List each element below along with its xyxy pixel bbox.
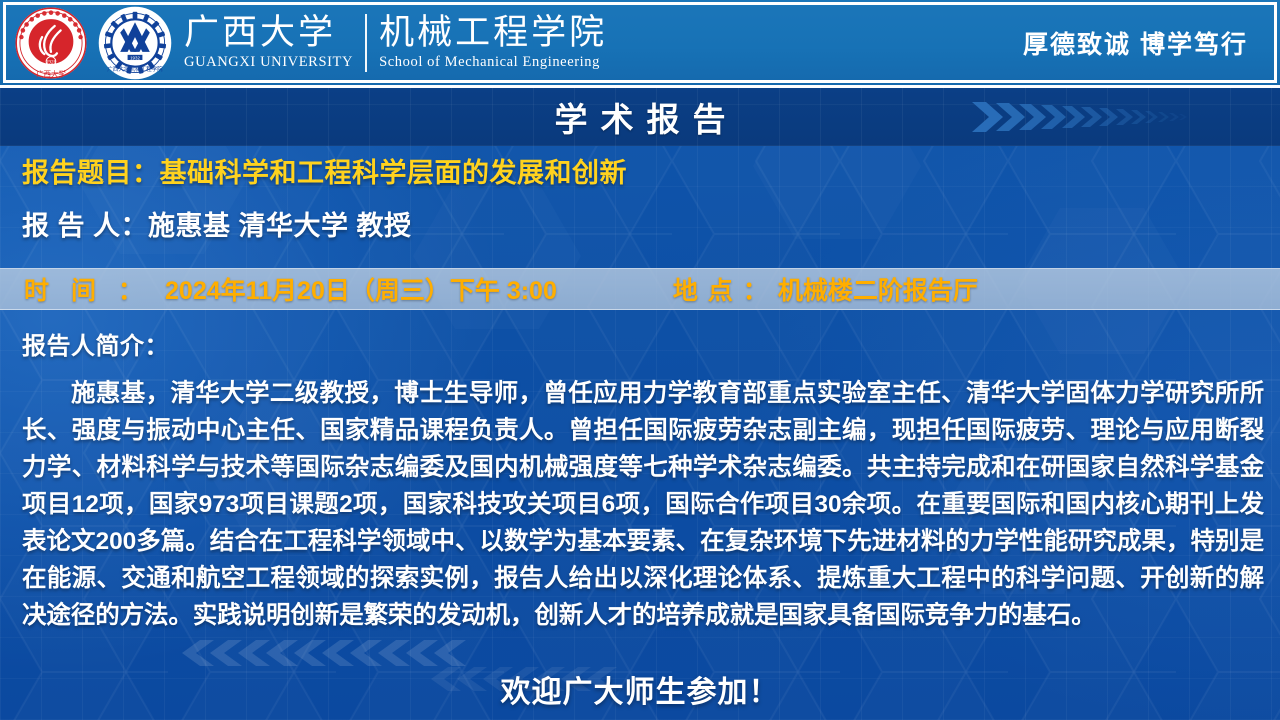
institution-wordmark: 广西大学 GUANGXI UNIVERSITY 机械工程学院 School of… bbox=[184, 6, 607, 80]
lecture-time-label: 时间： bbox=[24, 277, 165, 305]
title-band: 学术报告 bbox=[0, 88, 1280, 146]
lecture-speaker-line: 报 告 人：施惠基 清华大学 教授 bbox=[22, 213, 1280, 240]
lecture-topic-line: 报告题目：基础科学和工程科学层面的发展和创新 bbox=[22, 160, 1280, 187]
lecture-place-label: 地点： bbox=[673, 277, 778, 305]
lecture-place: 地点：机械楼二阶报告厅 bbox=[673, 271, 978, 307]
wordmark-university-cn: 广西大学 bbox=[184, 15, 353, 50]
lecture-time: 时间：2024年11月20日（周三）下午 3:00 bbox=[24, 271, 557, 307]
poster-header-bar: 1928 广西大学 bbox=[0, 0, 1280, 88]
lecture-topic-value: 基础科学和工程科学层面的发展和创新 bbox=[160, 158, 628, 188]
wordmark-university-en: GUANGXI UNIVERSITY bbox=[184, 54, 353, 71]
lecture-speaker-label: 报 告 人： bbox=[22, 211, 148, 241]
svg-text:广西大学: 广西大学 bbox=[36, 69, 66, 78]
lecture-topic-label: 报告题目： bbox=[22, 158, 160, 188]
speaker-bio-heading: 报告人简介： bbox=[22, 326, 1264, 361]
wordmark-divider bbox=[365, 14, 367, 72]
school-of-mechanical-engineering-seal-icon: 1932 广西大学机械工程学院 bbox=[98, 6, 172, 80]
svg-text:1928: 1928 bbox=[46, 59, 57, 65]
svg-text:1932: 1932 bbox=[130, 55, 140, 60]
academic-lecture-poster: 1928 广西大学 bbox=[0, 0, 1280, 720]
welcome-call-to-action: 欢迎广大师生参加！ bbox=[0, 664, 1280, 714]
page-title: 学术报告 bbox=[0, 88, 1280, 146]
speaker-bio-text: 施惠基，清华大学二级教授，博士生导师，曾任应用力学教育部重点实验室主任、清华大学… bbox=[22, 375, 1264, 634]
lecture-meta-block: 报告题目：基础科学和工程科学层面的发展和创新 报 告 人：施惠基 清华大学 教授 bbox=[0, 146, 1280, 268]
time-and-place-strip: 时间：2024年11月20日（周三）下午 3:00 地点：机械楼二阶报告厅 bbox=[0, 268, 1280, 310]
lecture-time-value: 2024年11月20日（周三）下午 3:00 bbox=[165, 277, 557, 305]
wordmark-school-cn: 机械工程学院 bbox=[379, 15, 607, 50]
lecture-place-value: 机械楼二阶报告厅 bbox=[778, 277, 978, 305]
lecture-speaker-value: 施惠基 清华大学 教授 bbox=[148, 211, 412, 241]
university-motto: 厚德致诚 博学笃行 bbox=[1023, 25, 1262, 61]
speaker-bio-section: 报告人简介： 施惠基，清华大学二级教授，博士生导师，曾任应用力学教育部重点实验室… bbox=[0, 312, 1280, 662]
guangxi-university-seal-icon: 1928 广西大学 bbox=[14, 6, 88, 80]
wordmark-school-en: School of Mechanical Engineering bbox=[379, 54, 607, 71]
